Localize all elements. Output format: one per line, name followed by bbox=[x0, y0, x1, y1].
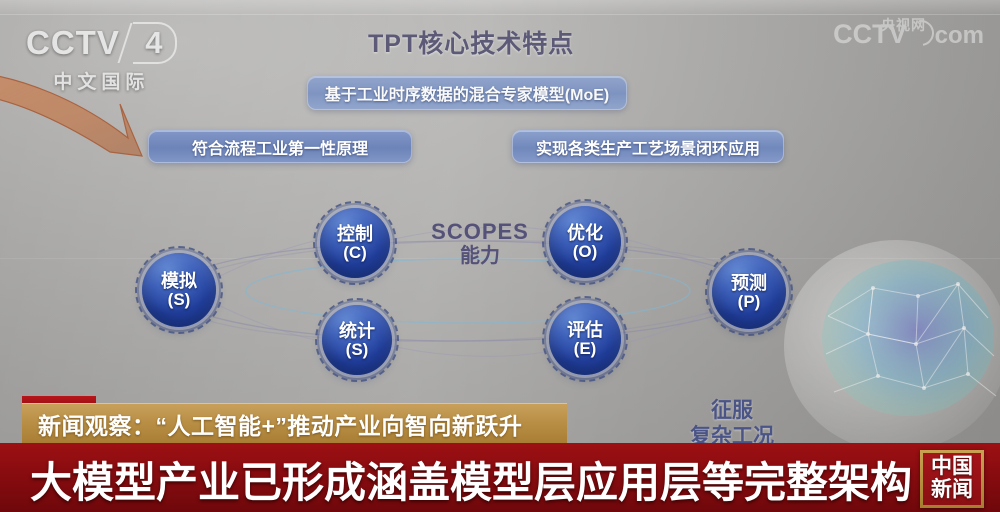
node-label-cn: 预测 bbox=[731, 274, 767, 293]
channel-bug-row: CCTV 4 bbox=[26, 22, 177, 64]
slide-footnote: 征服 复杂工况 bbox=[672, 398, 792, 449]
node-label-en: (E) bbox=[574, 340, 597, 358]
lower-third-headline-bar: 大模型产业已形成涵盖模型层应用层等完整架构 bbox=[0, 443, 1000, 512]
node-control[interactable]: 控制 (C) bbox=[320, 208, 390, 278]
watermark-cn: 央视网 bbox=[881, 18, 926, 33]
node-label-en: (S) bbox=[168, 291, 191, 309]
node-label-cn: 控制 bbox=[337, 225, 373, 244]
watermark-domain: com bbox=[935, 24, 984, 48]
scopes-cn: 能力 bbox=[420, 245, 540, 269]
node-prediction[interactable]: 预测 (P) bbox=[712, 255, 786, 329]
node-label-en: (C) bbox=[343, 244, 367, 262]
slide-footnote-line1: 征服 bbox=[672, 398, 792, 424]
pill-closed-loop[interactable]: 实现各类生产工艺场景闭环应用 bbox=[512, 130, 784, 163]
lower-third-headline-text: 大模型产业已形成涵盖模型层应用层等完整架构 bbox=[30, 449, 912, 510]
node-simulation[interactable]: 模拟 (S) bbox=[142, 253, 216, 327]
program-badge: 中国 新闻 bbox=[920, 450, 984, 508]
pill-moe-model[interactable]: 基于工业时序数据的混合专家模型(MoE) bbox=[307, 76, 627, 110]
node-statistics[interactable]: 统计 (S) bbox=[322, 305, 392, 375]
node-label-en: (P) bbox=[738, 293, 761, 311]
scopes-en: SCOPES bbox=[420, 219, 540, 245]
wall-seam-mid bbox=[0, 258, 1000, 259]
channel-bug-number: 4 bbox=[133, 22, 177, 64]
scopes-center-label: SCOPES 能力 bbox=[420, 219, 540, 269]
node-evaluation[interactable]: 评估 (E) bbox=[549, 303, 621, 375]
channel-bug-subtitle: 中文国际 bbox=[26, 67, 177, 94]
program-badge-line1: 中国 bbox=[931, 456, 973, 479]
broadcast-frame: TPT核心技术特点 基于工业时序数据的混合专家模型(MoE) 符合流程工业第一性… bbox=[0, 0, 1000, 512]
wall-seam-top bbox=[0, 14, 1000, 15]
node-label-cn: 统计 bbox=[339, 322, 375, 341]
node-label-cn: 优化 bbox=[567, 224, 603, 243]
brain-graphic bbox=[768, 226, 1000, 466]
node-label-cn: 评估 bbox=[567, 321, 603, 340]
pill-first-principles[interactable]: 符合流程工业第一性原理 bbox=[148, 130, 412, 163]
node-label-en: (O) bbox=[573, 243, 598, 261]
lower-third-topic-bar: 新闻观察：“人工智能+”推动产业向智向新跃升 bbox=[22, 403, 567, 444]
node-label-cn: 模拟 bbox=[161, 272, 197, 291]
program-badge-line2: 新闻 bbox=[931, 479, 973, 502]
lower-third-topic-text: 新闻观察：“人工智能+”推动产业向智向新跃升 bbox=[22, 407, 522, 441]
site-watermark: CCTV com 央视网 bbox=[833, 20, 984, 48]
node-optimization[interactable]: 优化 (O) bbox=[549, 206, 621, 278]
channel-bug: CCTV 4 中文国际 bbox=[26, 22, 177, 94]
wall-top-highlight bbox=[0, 0, 1000, 16]
node-label-en: (S) bbox=[346, 341, 369, 359]
program-badge-inner: 中国 新闻 bbox=[923, 453, 981, 505]
slide-title: TPT核心技术特点 bbox=[368, 24, 574, 60]
channel-bug-name: CCTV bbox=[26, 24, 120, 62]
